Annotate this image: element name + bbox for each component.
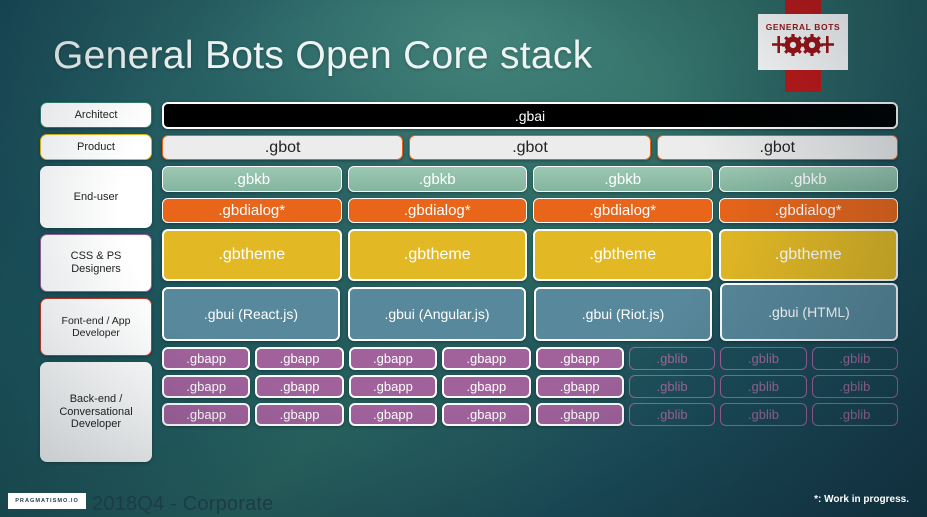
- stack-cell-gbkb[interactable]: .gbkb: [348, 166, 528, 192]
- stack-cell-gblib[interactable]: .gblib: [720, 403, 806, 426]
- stack-cell-gbapp[interactable]: .gbapp: [442, 347, 530, 370]
- cell-label: .gbapp: [186, 379, 226, 394]
- cell-label: .gbtheme: [589, 246, 656, 264]
- cell-label: .gbapp: [280, 379, 320, 394]
- role-label: CSS & PS Designers: [45, 250, 147, 276]
- pragmatismo-logo: PRAGMATISMO.IO: [8, 493, 86, 509]
- cell-label: .gbkb: [790, 171, 827, 188]
- stack-row-gbui: .gbui (React.js) .gbui (Angular.js) .gbu…: [162, 287, 898, 341]
- cell-label: .gbdialog*: [589, 202, 656, 219]
- role-labels-column: Architect Product End-user CSS & PS Desi…: [40, 102, 152, 468]
- stack-cell-gbapp[interactable]: .gbapp: [349, 375, 437, 398]
- work-in-progress-note: *: Work in progress.: [814, 494, 909, 505]
- cell-label: .gblib: [657, 407, 688, 422]
- slide-footer: PRAGMATISMO.IO 2018Q4 - Corporate *: Wor…: [0, 485, 927, 517]
- cell-label: .gbapp: [280, 407, 320, 422]
- cell-label: .gbapp: [560, 351, 600, 366]
- stack-cell-gbot[interactable]: .gbot: [162, 135, 403, 160]
- stack-row-gbdialog: .gbdialog* .gbdialog* .gbdialog* .gbdial…: [162, 198, 898, 223]
- pragmatismo-wordmark: PRAGMATISMO.IO: [15, 498, 79, 504]
- stack-cell-gbapp[interactable]: .gbapp: [442, 403, 530, 426]
- stack-cell-gblib[interactable]: .gblib: [629, 375, 715, 398]
- stack-cell-gbtheme[interactable]: .gbtheme: [162, 229, 342, 281]
- cell-label: .gbkb: [233, 171, 270, 188]
- cell-label: .gblib: [839, 351, 870, 366]
- stack-cell-gblib[interactable]: .gblib: [812, 375, 898, 398]
- stack-cell-gbdialog[interactable]: .gbdialog*: [162, 198, 342, 223]
- cell-label: .gbapp: [280, 351, 320, 366]
- stack-cell-gbapp[interactable]: .gbapp: [536, 375, 624, 398]
- gears-icon: [772, 34, 834, 61]
- stack-row-gbapp-gblib-2: .gbapp .gbapp .gbapp .gbapp .gbapp .gbli…: [162, 375, 898, 398]
- stack-row-gbapp-gblib-1: .gbapp .gbapp .gbapp .gbapp .gbapp .gbli…: [162, 347, 898, 370]
- slide-canvas: GENERAL BOTS: [0, 0, 927, 517]
- stack-cell-gbdialog[interactable]: .gbdialog*: [533, 198, 713, 223]
- stack-cell-gbkb[interactable]: .gbkb: [162, 166, 342, 192]
- stack-cell-gbtheme[interactable]: .gbtheme: [719, 229, 899, 281]
- cell-label: .gbdialog*: [775, 202, 842, 219]
- stack-cell-gbapp[interactable]: .gbapp: [442, 375, 530, 398]
- role-css-ps-designers[interactable]: CSS & PS Designers: [40, 234, 152, 292]
- stack-cell-gbapp[interactable]: .gbapp: [536, 403, 624, 426]
- cell-label: .gbkb: [604, 171, 641, 188]
- cell-label: .gbapp: [186, 407, 226, 422]
- stack-cell-gbdialog[interactable]: .gbdialog*: [719, 198, 899, 223]
- stack-cell-gbapp[interactable]: .gbapp: [162, 347, 250, 370]
- logo-card: GENERAL BOTS: [758, 14, 848, 70]
- cell-label: .gblib: [748, 379, 779, 394]
- stack-cell-gbapp[interactable]: .gbapp: [255, 375, 343, 398]
- stack-cell-gblib[interactable]: .gblib: [812, 347, 898, 370]
- cell-label: .gblib: [748, 407, 779, 422]
- stack-row-gbai: .gbai: [162, 102, 898, 129]
- footer-caption: 2018Q4 - Corporate: [92, 493, 273, 516]
- stack-row-gbapp-gblib-3: .gbapp .gbapp .gbapp .gbapp .gbapp .gbli…: [162, 403, 898, 426]
- cell-label: .gblib: [748, 351, 779, 366]
- stack-cell-gbapp[interactable]: .gbapp: [162, 375, 250, 398]
- cell-label: .gbdialog*: [218, 202, 285, 219]
- stack-cell-gbapp[interactable]: .gbapp: [349, 403, 437, 426]
- stack-cell-gbapp[interactable]: .gbapp: [536, 347, 624, 370]
- cell-label: .gbtheme: [218, 246, 285, 264]
- stack-cell-gbkb[interactable]: .gbkb: [533, 166, 713, 192]
- cell-label: .gbot: [265, 139, 301, 157]
- stack-cell-gbapp[interactable]: .gbapp: [162, 403, 250, 426]
- role-label: End-user: [74, 191, 119, 204]
- stack-row-gbot: .gbot .gbot .gbot: [162, 135, 898, 160]
- role-end-user[interactable]: End-user: [40, 166, 152, 228]
- cell-label: .gbui (HTML): [768, 304, 850, 320]
- role-label: Back-end / Conversational Developer: [45, 393, 147, 432]
- cell-label: .gbai: [515, 108, 545, 124]
- logo-wordmark: GENERAL BOTS: [766, 23, 841, 32]
- stack-cell-gblib[interactable]: .gblib: [720, 375, 806, 398]
- stack-cell-gbtheme[interactable]: .gbtheme: [348, 229, 528, 281]
- cell-label: .gbkb: [419, 171, 456, 188]
- cell-label: .gbui (Riot.js): [582, 306, 664, 322]
- stack-diagram: .gbai .gbot .gbot .gbot .gbkb .gbkb .gbk…: [162, 102, 898, 431]
- stack-cell-gbui-angular[interactable]: .gbui (Angular.js): [348, 287, 526, 341]
- cell-label: .gblib: [657, 379, 688, 394]
- general-bots-logo: GENERAL BOTS: [767, 0, 839, 92]
- stack-cell-gbapp[interactable]: .gbapp: [349, 347, 437, 370]
- stack-cell-gbui-react[interactable]: .gbui (React.js): [162, 287, 340, 341]
- role-front-end-app-developer[interactable]: Font-end / App Developer: [40, 298, 152, 356]
- stack-cell-gbapp[interactable]: .gbapp: [255, 347, 343, 370]
- cell-label: .gbapp: [466, 407, 506, 422]
- cell-label: .gbapp: [186, 351, 226, 366]
- stack-row-gbtheme: .gbtheme .gbtheme .gbtheme .gbtheme: [162, 229, 898, 281]
- stack-cell-gbai[interactable]: .gbai: [162, 102, 898, 129]
- cell-label: .gbapp: [560, 407, 600, 422]
- role-back-end-conversational-developer[interactable]: Back-end / Conversational Developer: [40, 362, 152, 462]
- cell-label: .gbot: [760, 139, 796, 157]
- cell-label: .gbapp: [373, 379, 413, 394]
- stack-cell-gbui-riot[interactable]: .gbui (Riot.js): [534, 287, 712, 341]
- cell-label: .gbot: [512, 139, 548, 157]
- cell-label: .gbapp: [466, 379, 506, 394]
- cell-label: .gbapp: [373, 351, 413, 366]
- cell-label: .gblib: [657, 351, 688, 366]
- cell-label: .gbapp: [373, 407, 413, 422]
- cell-label: .gbui (Angular.js): [384, 306, 489, 322]
- cell-label: .gblib: [839, 407, 870, 422]
- stack-cell-gblib[interactable]: .gblib: [720, 347, 806, 370]
- stack-cell-gbot[interactable]: .gbot: [409, 135, 650, 160]
- stack-cell-gbui-html[interactable]: .gbui (HTML): [720, 283, 898, 341]
- stack-cell-gbdialog[interactable]: .gbdialog*: [348, 198, 528, 223]
- role-product[interactable]: Product: [40, 134, 152, 160]
- cell-label: .gbui (React.js): [204, 306, 298, 322]
- stack-row-gbkb: .gbkb .gbkb .gbkb .gbkb: [162, 166, 898, 192]
- cell-label: .gbapp: [466, 351, 506, 366]
- stack-cell-gbkb[interactable]: .gbkb: [719, 166, 899, 192]
- stack-cell-gbot[interactable]: .gbot: [657, 135, 898, 160]
- cell-label: .gbapp: [560, 379, 600, 394]
- role-label: Font-end / App Developer: [45, 315, 147, 340]
- cell-label: .gbdialog*: [404, 202, 471, 219]
- stack-cell-gbapp[interactable]: .gbapp: [255, 403, 343, 426]
- role-architect[interactable]: Architect: [40, 102, 152, 128]
- cell-label: .gbtheme: [404, 246, 471, 264]
- page-title: General Bots Open Core stack: [53, 34, 593, 78]
- stack-cell-gblib[interactable]: .gblib: [629, 403, 715, 426]
- stack-cell-gblib[interactable]: .gblib: [812, 403, 898, 426]
- role-label: Product: [77, 141, 115, 154]
- stack-cell-gbtheme[interactable]: .gbtheme: [533, 229, 713, 281]
- cell-label: .gblib: [839, 379, 870, 394]
- cell-label: .gbtheme: [775, 246, 842, 264]
- stack-cell-gblib[interactable]: .gblib: [629, 347, 715, 370]
- role-label: Architect: [75, 109, 118, 122]
